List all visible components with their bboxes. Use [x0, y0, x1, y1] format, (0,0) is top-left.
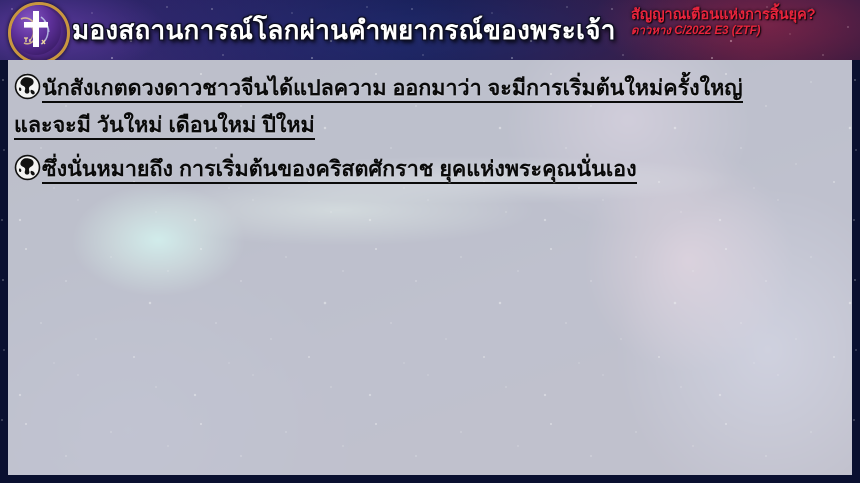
slide-content-area: นักสังเกตดวงดาวชาวจีนได้แปลความ ออกมาว่า… — [8, 60, 852, 475]
presentation-slide: นักสังเกตดวงดาวชาวจีนได้แปลความ ออกมาว่า… — [0, 0, 860, 483]
body-line-1-text: นักสังเกตดวงดาวชาวจีนได้แปลความ ออกมาว่า… — [42, 76, 743, 103]
ministry-logo — [8, 2, 70, 60]
body-line-3-text: ซึ่งนั่นหมายถึง การเริ่มต้นของคริสตศักรา… — [42, 157, 637, 184]
body-line-1: นักสังเกตดวงดาวชาวจีนได้แปลความ ออกมาว่า… — [14, 70, 846, 107]
body-line-3: ซึ่งนั่นหมายถึง การเริ่มต้นของคริสตศักรา… — [14, 151, 846, 188]
slide-header: มองสถานการณ์โลกผ่านคำพยากรณ์ของพระเจ้า ส… — [0, 0, 860, 60]
tagline-secondary: ดาวหาง C/2022 E3 (ZTF) — [631, 24, 846, 39]
body-text-block: นักสังเกตดวงดาวชาวจีนได้แปลความ ออกมาว่า… — [8, 60, 852, 188]
globe-icon — [14, 154, 41, 181]
cross-lion-emblem-logo — [11, 5, 67, 60]
frame-stars-left — [0, 60, 8, 483]
header-tagline: สัญญาณเตือนแห่งการสิ้นยุค? ดาวหาง C/2022… — [631, 6, 846, 39]
frame-border-bottom — [0, 475, 860, 483]
body-line-2: และจะมี วันใหม่ เดือนใหม่ ปีใหม่ — [14, 107, 846, 144]
frame-stars-right — [852, 60, 860, 483]
page-title: มองสถานการณ์โลกผ่านคำพยากรณ์ของพระเจ้า — [72, 8, 616, 52]
frame-border-right — [852, 60, 860, 483]
body-line-2-text: และจะมี วันใหม่ เดือนใหม่ ปีใหม่ — [14, 113, 315, 140]
tagline-primary: สัญญาณเตือนแห่งการสิ้นยุค? — [631, 6, 846, 24]
frame-border-left — [0, 60, 8, 483]
globe-icon — [14, 73, 41, 100]
